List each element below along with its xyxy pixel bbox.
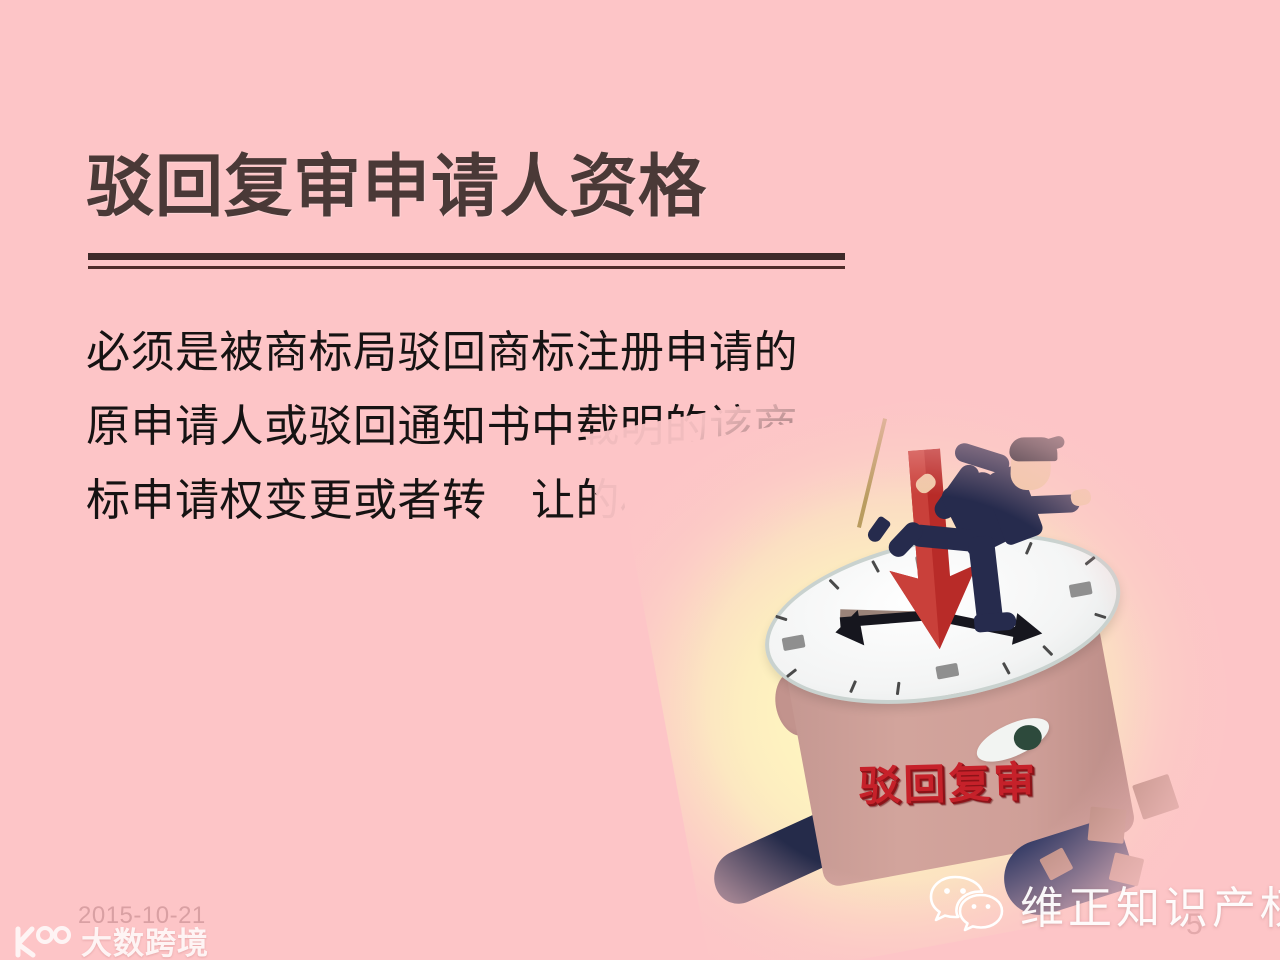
divider-thick-bar [88, 253, 845, 260]
clock-businessman-illustration: 驳回复审 [615, 353, 1264, 960]
shoe-front [974, 612, 1017, 633]
hand-front [913, 471, 939, 496]
presentation-slide: 驳回复审申请人资格 必须是被商标局驳回商标注册申请的 原申请人或驳回通知书中载明… [0, 0, 1280, 960]
dashu-watermark: 大数跨境 [12, 918, 209, 960]
clock-tick [849, 680, 857, 693]
brand-watermark: 维正知识产权 [928, 872, 1280, 936]
clock-tick [1042, 645, 1053, 656]
clock-tick [775, 615, 787, 621]
confetti-chip [1088, 807, 1127, 844]
title-divider [88, 253, 845, 271]
wechat-icon [928, 873, 1008, 935]
body-line-1: 必须是被商标局驳回商标注册申请的 [86, 316, 806, 390]
clock-tick [786, 668, 797, 678]
divider-thin-bar [88, 266, 845, 269]
page-number: 5 [1186, 908, 1203, 942]
clock-tick [1002, 662, 1011, 675]
dashu-logo-icon [12, 924, 74, 958]
pole-icon [857, 418, 887, 528]
clock-marker [782, 634, 806, 651]
hand-back [1070, 488, 1093, 507]
businessman-figure [851, 388, 1121, 666]
clock-marker [935, 663, 959, 680]
page-title: 驳回复审申请人资格 [86, 152, 707, 223]
dashu-watermark-label: 大数跨境 [81, 918, 209, 960]
cylinder-label: 驳回复审 [858, 748, 1040, 814]
clock-tick [828, 579, 839, 590]
clock-tick [896, 682, 901, 695]
brand-watermark-label: 维正知识产权 [1020, 872, 1280, 936]
